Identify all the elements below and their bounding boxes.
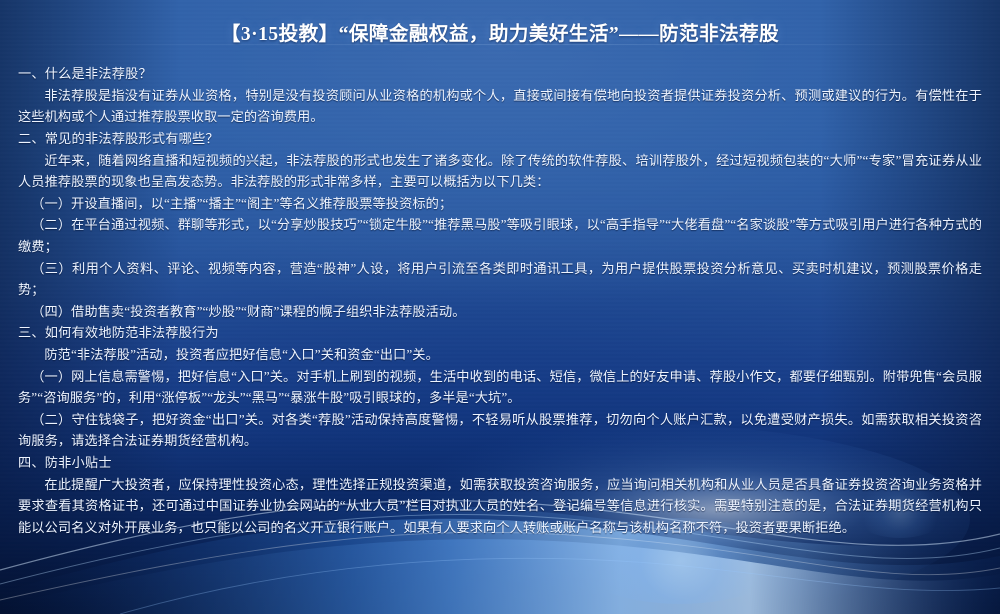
section-4-heading: 四、防非小贴士 <box>18 452 982 474</box>
section-2-paragraph-1: 近年来，随着网络直播和短视频的兴起，非法荐股的形式也发生了诸多变化。除了传统的软… <box>18 150 982 193</box>
section-4: 四、防非小贴士 在此提醒广大投资者，应保持理性投资心态，理性选择正规投资渠道，如… <box>18 452 982 538</box>
section-4-paragraph-1: 在此提醒广大投资者，应保持理性投资心态，理性选择正规投资渠道，如需获取投资咨询服… <box>18 474 982 539</box>
article-body: 一、什么是非法荐股？ 非法荐股是指没有证券从业资格，特别是没有投资顾问从业资格的… <box>18 63 982 538</box>
poster-canvas: 【3·15投教】“保障金融权益，助力美好生活”——防范非法荐股 一、什么是非法荐… <box>0 0 1000 614</box>
section-1: 一、什么是非法荐股？ 非法荐股是指没有证券从业资格，特别是没有投资顾问从业资格的… <box>18 63 982 128</box>
section-2: 二、常见的非法荐股形式有哪些？ 近年来，随着网络直播和短视频的兴起，非法荐股的形… <box>18 128 982 322</box>
section-1-paragraph-1: 非法荐股是指没有证券从业资格，特别是没有投资顾问从业资格的机构或个人，直接或间接… <box>18 85 982 128</box>
section-3-item-1: （一）网上信息需警惕，把好信息“入口”关。对手机上刷到的视频，生活中收到的电话、… <box>18 366 982 409</box>
page-title: 【3·15投教】“保障金融权益，助力美好生活”——防范非法荐股 <box>18 20 982 49</box>
section-1-heading: 一、什么是非法荐股？ <box>18 63 982 85</box>
section-3: 三、如何有效地防范非法荐股行为 防范“非法荐股”活动，投资者应把好信息“入口”关… <box>18 322 982 452</box>
poster-content: 【3·15投教】“保障金融权益，助力美好生活”——防范非法荐股 一、什么是非法荐… <box>0 0 1000 538</box>
section-2-heading: 二、常见的非法荐股形式有哪些？ <box>18 128 982 150</box>
section-2-item-2: （二）在平台通过视频、群聊等形式，以“分享炒股技巧”“锁定牛股”“推荐黑马股”等… <box>18 214 982 257</box>
section-2-item-3: （三）利用个人资料、评论、视频等内容，营造“股神”人设，将用户引流至各类即时通讯… <box>18 258 982 301</box>
section-3-paragraph-1: 防范“非法荐股”活动，投资者应把好信息“入口”关和资金“出口”关。 <box>18 344 982 366</box>
section-2-item-4: （四）借助售卖“投资者教育”“炒股”“财商”课程的幌子组织非法荐股活动。 <box>18 301 982 323</box>
section-3-heading: 三、如何有效地防范非法荐股行为 <box>18 322 982 344</box>
section-3-item-2: （二）守住钱袋子，把好资金“出口”关。对各类“荐股”活动保持高度警惕，不轻易听从… <box>18 409 982 452</box>
section-2-item-1: （一）开设直播间，以“主播”“播主”“阁主”等名义推荐股票等投资标的； <box>18 193 982 215</box>
